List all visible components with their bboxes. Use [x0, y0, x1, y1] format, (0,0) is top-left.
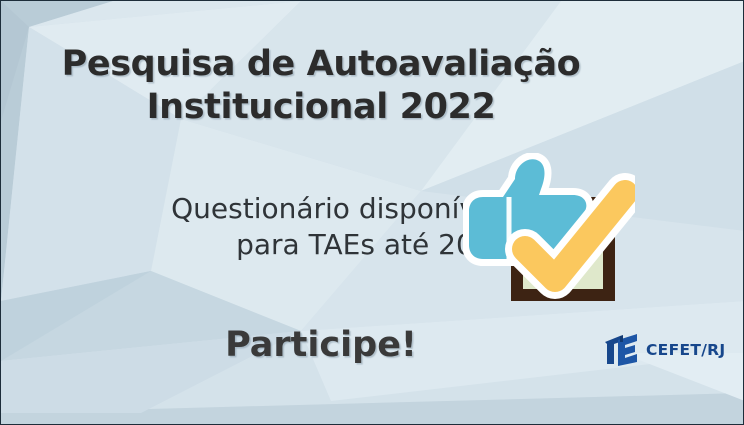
- poster-banner: Pesquisa de Autoavaliação Institucional …: [0, 0, 744, 425]
- cefet-rj-logo-mark: [603, 333, 639, 367]
- cefet-rj-logo-text: CEFET/RJ: [646, 341, 725, 359]
- thumbs-up-ballot-check-illustration: [463, 153, 635, 305]
- cefet-rj-logo: CEFET/RJ: [603, 332, 729, 368]
